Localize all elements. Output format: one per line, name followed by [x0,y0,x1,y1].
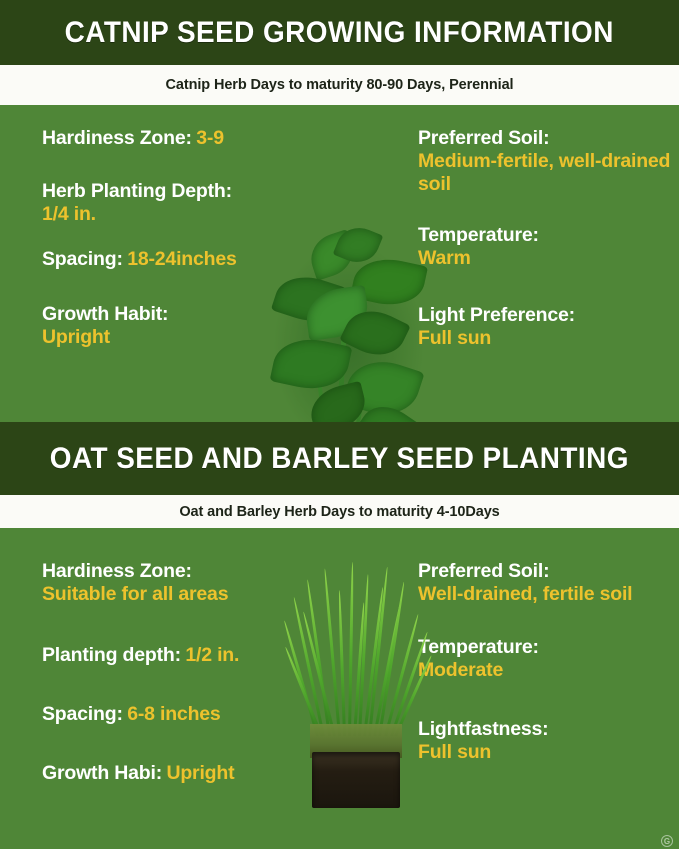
fact-label: Growth Habi: [42,762,162,784]
fact-herb-planting-depth: Herb Planting Depth: 1/4 in. [42,180,237,226]
section-2-subtitle-band: Oat and Barley Herb Days to maturity 4-1… [0,495,679,528]
fact-value: Medium-fertile, well-drained soil [418,150,679,196]
fact-value: Suitable for all areas [42,583,239,606]
catnip-plant-illustration [250,211,440,422]
fact-value: 18-24inches [127,248,236,270]
fact-hardiness-zone: Hardiness Zone: 3-9 [42,127,237,150]
fact-value: Moderate [418,659,632,682]
catnip-leaf-8 [341,352,424,422]
section-2-subtitle: Oat and Barley Herb Days to maturity 4-1… [179,504,499,520]
catnip-leaf-9 [306,381,370,422]
catnip-leaf-7 [270,332,353,396]
fact-label: Preferred Soil: [418,560,632,583]
section-1-content: Hardiness Zone: 3-9 Herb Planting Depth:… [0,105,679,422]
section-1-left-column: Hardiness Zone: 3-9 Herb Planting Depth:… [42,127,237,349]
fact-value: Upright [166,762,234,784]
section-2-right-column: Preferred Soil: Well-drained, fertile so… [418,560,632,764]
section-1-subtitle-band: Catnip Herb Days to maturity 80-90 Days,… [0,65,679,105]
catnip-leaf-2 [333,221,384,269]
fact-spacing: Spacing: 18-24inches [42,248,237,271]
section-1-right-column: Preferred Soil: Medium-fertile, well-dra… [418,127,679,350]
fact-label: Temperature: [418,636,632,659]
fact-temperature: Temperature: Warm [418,224,679,270]
catnip-leaf-3 [350,252,428,312]
fact-label: Temperature: [418,224,679,247]
fact-label: Hardiness Zone: [42,560,239,583]
catnip-leaf-6 [339,301,410,366]
fact-value: Full sun [418,741,632,764]
corner-watermark-icon: G [661,835,673,847]
section-2-left-column: Hardiness Zone: Suitable for all areas P… [42,560,239,785]
fact-hardiness-zone: Hardiness Zone: Suitable for all areas [42,560,239,606]
seed-growing-infographic: CATNIP SEED GROWING INFORMATION Catnip H… [0,0,679,849]
catnip-glow [250,211,440,422]
section-2-header-band: OAT SEED AND BARLEY SEED PLANTING [0,422,679,495]
section-1-subtitle: Catnip Herb Days to maturity 80-90 Days,… [166,77,514,93]
fact-label: Spacing: [42,703,123,725]
fact-label: Herb Planting Depth: [42,180,237,203]
catnip-stem-left [314,361,337,422]
fact-value: 1/4 in. [42,203,237,226]
fact-planting-depth: Planting depth: 1/2 in. [42,644,239,667]
fact-label: Spacing: [42,248,123,270]
section-1-header-band: CATNIP SEED GROWING INFORMATION [0,0,679,65]
fact-label: Lightfastness: [418,718,632,741]
fact-growth-habit: Growth Habi: Upright [42,762,239,785]
catnip-leaf-10 [355,396,420,422]
section-2-title: OAT SEED AND BARLEY SEED PLANTING [50,442,629,476]
catnip-leaf-5 [303,285,371,341]
catnip-leaf-4 [271,268,347,330]
fact-value: Warm [418,247,679,270]
fact-label: Planting depth: [42,644,181,666]
fact-value: 3-9 [196,127,224,149]
fact-value: 1/2 in. [185,644,239,666]
fact-lightfastness: Lightfastness: Full sun [418,718,632,764]
fact-temperature: Temperature: Moderate [418,636,632,682]
fact-label: Preferred Soil: [418,127,679,150]
section-1-title: CATNIP SEED GROWING INFORMATION [65,16,614,50]
fact-spacing: Spacing: 6-8 inches [42,703,239,726]
catnip-stem-right [344,371,368,422]
fact-value: 6-8 inches [127,703,220,725]
catnip-stem-main [333,303,348,422]
fact-preferred-soil: Preferred Soil: Well-drained, fertile so… [418,560,632,606]
section-2-content: Hardiness Zone: Suitable for all areas P… [0,528,679,849]
fact-value: Well-drained, fertile soil [418,583,632,606]
fact-label: Growth Habit: [42,303,237,326]
fact-label: Light Preference: [418,304,679,327]
fact-light-preference: Light Preference: Full sun [418,304,679,350]
fact-preferred-soil: Preferred Soil: Medium-fertile, well-dra… [418,127,679,196]
fact-growth-habit: Growth Habit: Upright [42,303,237,349]
fact-label: Hardiness Zone: [42,127,192,149]
catnip-leaf-1 [305,229,359,281]
fact-value: Full sun [418,327,679,350]
fact-value: Upright [42,326,237,349]
